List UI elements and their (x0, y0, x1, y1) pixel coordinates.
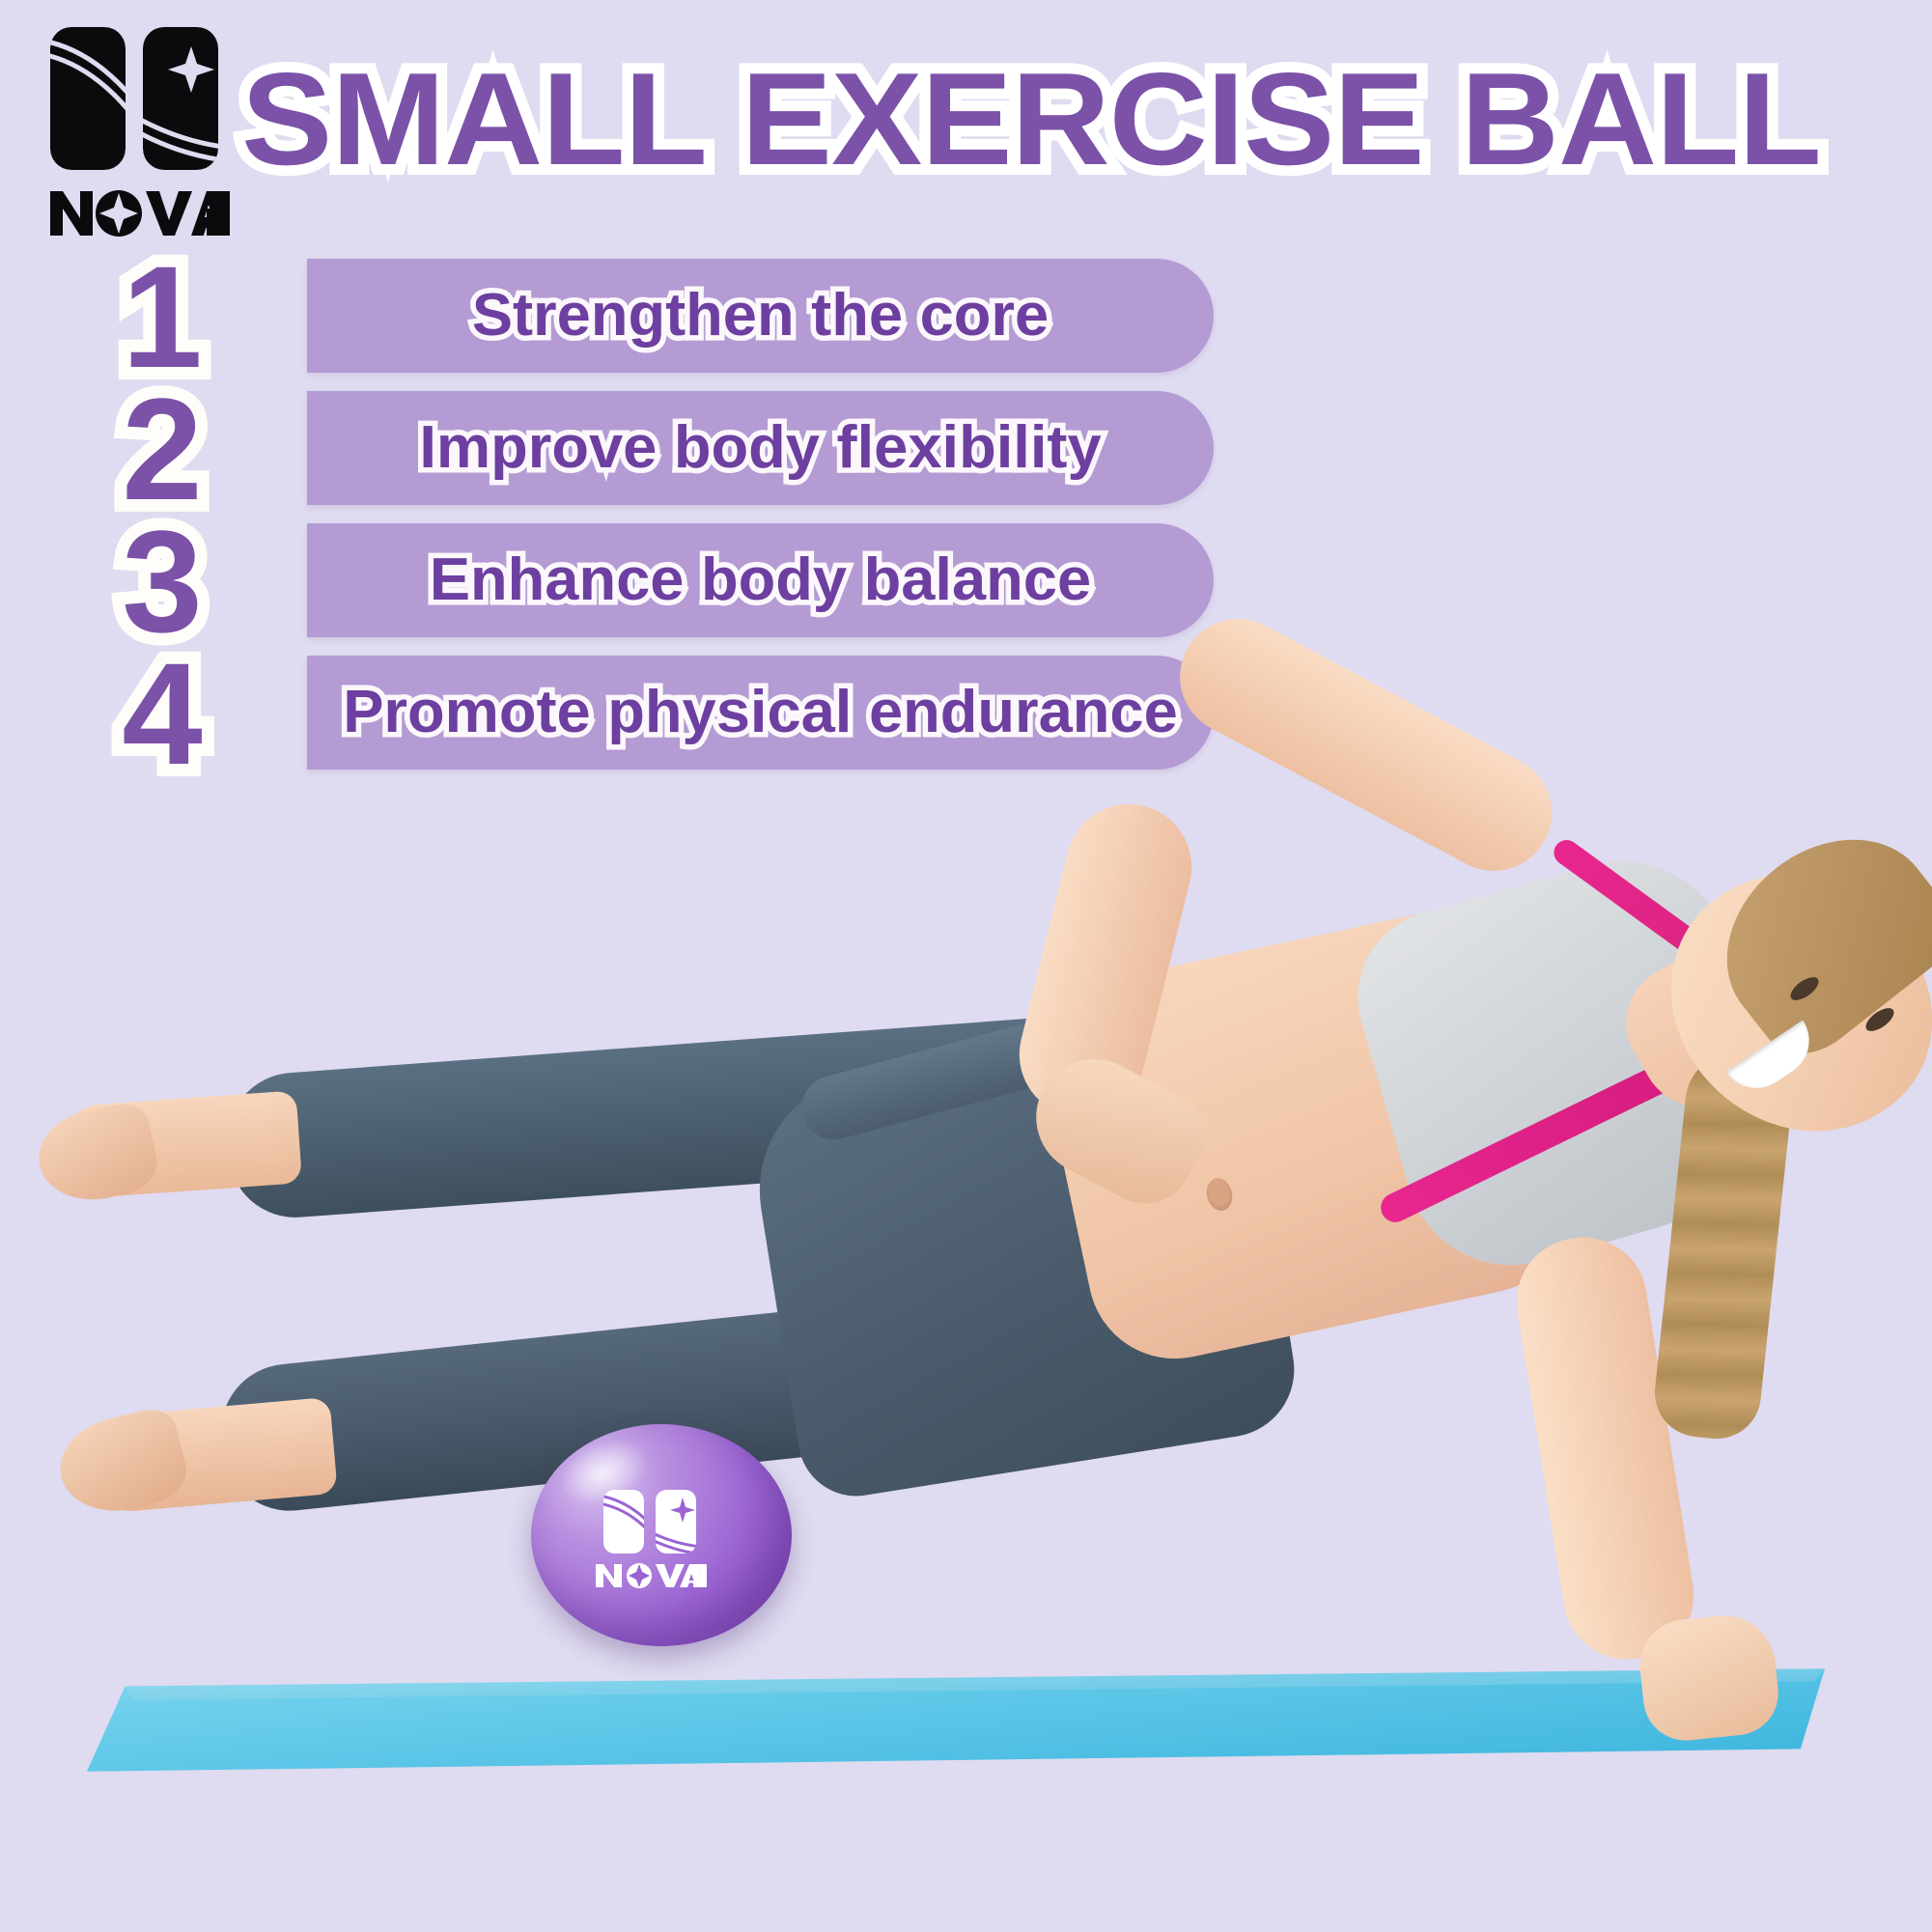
benefit-number-4: 4 (104, 634, 220, 794)
benefit-label-3: Enhance body balance (298, 523, 1223, 637)
novae-wordmark (46, 183, 230, 243)
ball-novae-wordmark (594, 1560, 710, 1591)
benefit-label-2: Improve body flexibility (298, 391, 1223, 505)
ball-novae-logo-mark-icon (602, 1487, 702, 1556)
benefit-row-3: 3 Enhance body balance (0, 523, 1284, 639)
product-infographic-poster: SMALL EXERCISE BALL 1 Strengthen the cor… (0, 0, 1932, 1932)
supporting-fist (1636, 1610, 1782, 1745)
benefit-row-2: 2 Improve body flexibility (0, 391, 1284, 507)
benefit-pill-3: Enhance body balance (307, 523, 1214, 637)
exercise-ball-logo (594, 1487, 710, 1595)
benefit-row-4: 4 Promote physical endurance (0, 656, 1284, 771)
novae-logo-mark-icon (46, 21, 230, 176)
poster-header: SMALL EXERCISE BALL (0, 0, 1932, 241)
benefit-pill-1: Strengthen the core (307, 259, 1214, 373)
benefit-label-1: Strengthen the core (298, 259, 1223, 373)
page-title: SMALL EXERCISE BALL (241, 42, 1807, 197)
product-lifestyle-photo (0, 985, 1932, 1932)
benefit-row-1: 1 Strengthen the core (0, 259, 1284, 375)
brand-logo (46, 21, 230, 253)
benefit-label-4: Promote physical endurance (298, 656, 1223, 770)
benefit-pill-4: Promote physical endurance (307, 656, 1214, 770)
benefit-pill-2: Improve body flexibility (307, 391, 1214, 505)
yoga-mat (87, 1651, 1825, 1777)
